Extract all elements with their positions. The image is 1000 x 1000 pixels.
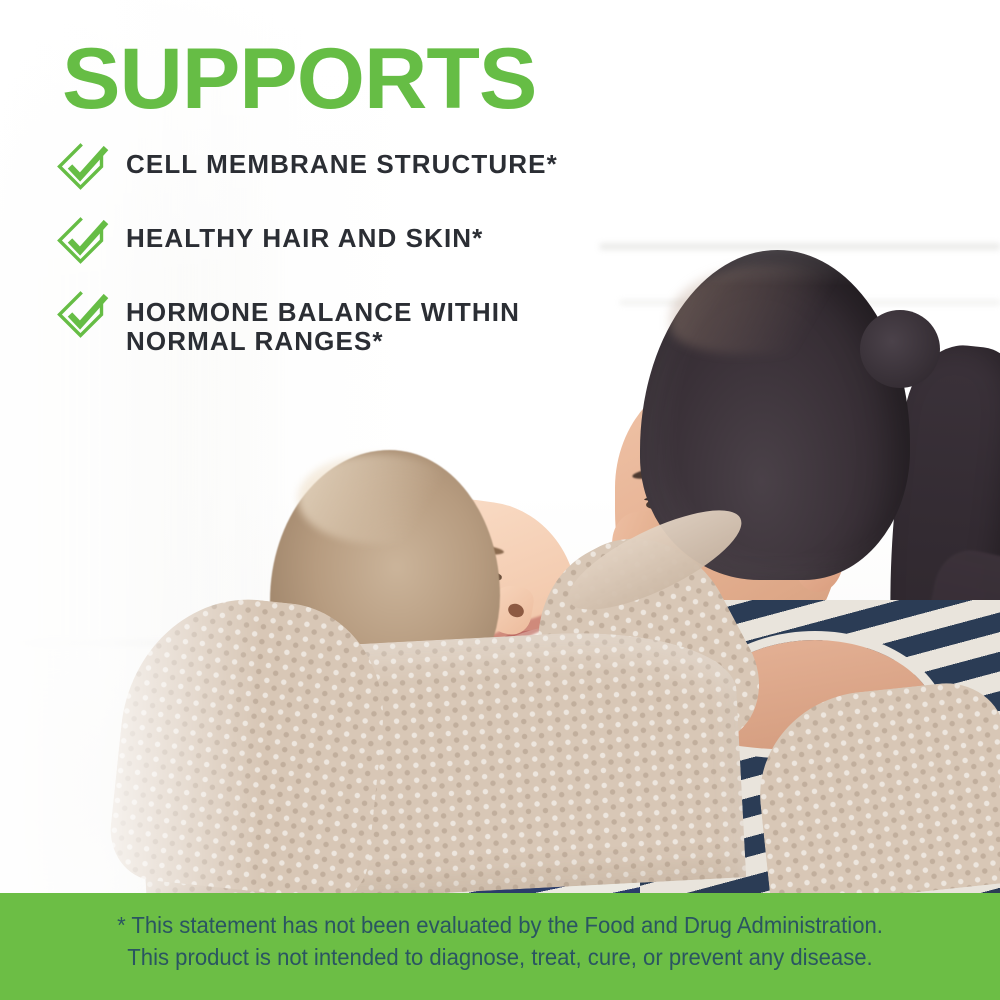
check-diamond-icon: [56, 290, 110, 340]
disclaimer-text: * This statement has not been evaluated …: [30, 909, 970, 973]
disclaimer-band: * This statement has not been evaluated …: [0, 893, 1000, 1000]
girl-hair-highlight: [298, 454, 458, 544]
page-title: SUPPORTS: [62, 36, 536, 122]
mother-hair-tie: [860, 310, 940, 388]
lifestyle-photo: [0, 0, 1000, 893]
check-diamond-icon: [56, 216, 110, 266]
list-item: HEALTHY HAIR AND SKIN*: [56, 216, 696, 266]
list-item: CELL MEMBRANE STRUCTURE*: [56, 142, 696, 192]
check-diamond-icon: [56, 142, 110, 192]
list-item-label: HEALTHY HAIR AND SKIN*: [126, 216, 483, 253]
list-item: HORMONE BALANCE WITHIN NORMAL RANGES*: [56, 290, 696, 356]
mother-hair-highlight: [670, 264, 870, 354]
product-benefits-poster: SUPPORTS CELL MEMBRANE STRUCTURE* HEALTH…: [0, 0, 1000, 1000]
list-item-label: CELL MEMBRANE STRUCTURE*: [126, 142, 558, 179]
benefits-list: CELL MEMBRANE STRUCTURE* HEALTHY HAIR AN…: [56, 142, 696, 380]
list-item-label: HORMONE BALANCE WITHIN NORMAL RANGES*: [126, 290, 520, 356]
